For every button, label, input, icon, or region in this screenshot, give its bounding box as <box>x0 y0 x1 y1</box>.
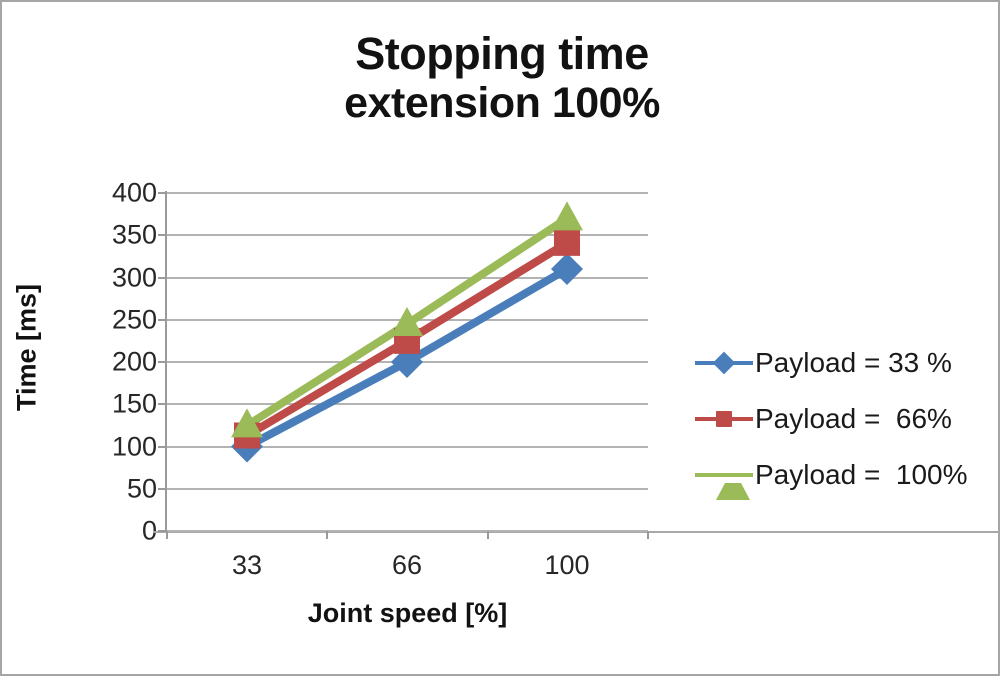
y-axis-tick <box>158 361 167 363</box>
y-axis-tick-label: 250 <box>112 304 157 335</box>
y-axis-tick-label: 100 <box>112 431 157 462</box>
y-axis-title: Time [ms] <box>12 248 43 448</box>
y-axis-tick <box>158 234 167 236</box>
plot-area <box>167 193 648 531</box>
chart-title: Stopping time extension 100% <box>2 28 1000 128</box>
chart-title-line-2: extension 100% <box>2 79 1000 128</box>
chart-image: Stopping time extension 100% Time [ms] 4… <box>0 0 1000 676</box>
x-axis-tick <box>326 531 328 539</box>
legend-item-2[interactable]: Payload = 66% <box>695 391 995 447</box>
y-axis-tick <box>158 277 167 279</box>
y-axis-tick <box>158 446 167 448</box>
y-axis-tick <box>158 403 167 405</box>
y-axis-tick <box>158 192 167 194</box>
x-axis-tick-label: 33 <box>232 550 262 581</box>
data-point-marker <box>554 230 580 256</box>
y-axis-tick-label: 400 <box>112 178 157 209</box>
legend-item-3[interactable]: Payload = 100% <box>695 447 995 503</box>
series-lines <box>167 193 648 531</box>
legend-label: Payload = 100% <box>755 459 968 491</box>
data-point-marker <box>551 253 583 285</box>
legend-item-1[interactable]: Payload = 33 % <box>695 335 995 391</box>
chart-title-line-1: Stopping time <box>2 28 1000 79</box>
y-axis-tick-label: 300 <box>112 262 157 293</box>
x-axis-tick <box>487 531 489 539</box>
y-axis-tick-label: 200 <box>112 347 157 378</box>
chart-legend: Payload = 33 %Payload = 66%Payload = 100… <box>695 335 995 503</box>
y-axis-tick-label: 150 <box>112 389 157 420</box>
data-point-marker <box>551 201 583 230</box>
x-axis-title: Joint speed [%] <box>167 598 648 629</box>
x-axis-tick <box>166 531 168 539</box>
y-axis-tick <box>158 488 167 490</box>
data-point-marker <box>391 307 423 336</box>
legend-marker-triangle-icon <box>695 462 753 488</box>
y-axis-tick <box>158 319 167 321</box>
x-axis-tick-label: 66 <box>392 550 422 581</box>
x-axis-tick <box>647 531 649 539</box>
x-axis-tick-label: 100 <box>544 550 589 581</box>
legend-label: Payload = 66% <box>755 403 952 435</box>
y-axis-tick-labels: 400350300250200150100500 <box>77 193 157 531</box>
x-axis-tick-labels: 3366100 <box>167 550 648 586</box>
legend-marker-diamond-icon <box>695 350 753 376</box>
legend-marker-square-icon <box>695 406 753 432</box>
legend-label: Payload = 33 % <box>755 347 952 379</box>
y-axis-tick-label: 350 <box>112 220 157 251</box>
y-axis-tick-label: 50 <box>127 473 157 504</box>
